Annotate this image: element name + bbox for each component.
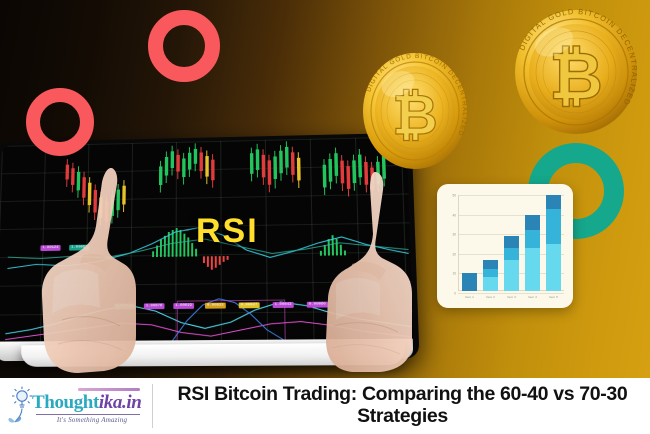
bar-segment	[546, 195, 561, 209]
red-ring-left-decoration	[26, 88, 94, 156]
logo-tagline: It's Something Amazing	[40, 416, 144, 424]
x-axis-tick-label: Item 4	[525, 295, 540, 299]
bar-column	[462, 195, 477, 291]
hero-banner: 1.00124 1.00061 1.00418 1.00076 1.00019 …	[0, 0, 650, 378]
price-chip-5: 1.00019	[173, 303, 194, 309]
bar-segment	[483, 277, 498, 291]
tablet-base-edge	[21, 343, 406, 367]
logo-wordmark: Thoughtika.in	[32, 392, 141, 414]
price-chip-4: 1.00076	[144, 303, 164, 309]
bar-segment	[504, 248, 519, 260]
bar-segment	[483, 269, 498, 277]
x-axis-tick-label: Item 1	[462, 295, 477, 299]
y-axis-tick-label: 40	[444, 213, 456, 217]
bar-chart-plot: 01020304050 Item 1Item 2Item 3Item 4Item…	[444, 193, 566, 302]
rsi-watermark-label: RSI	[196, 212, 259, 251]
bar-segment	[525, 215, 540, 231]
y-axis-tick-label: 10	[444, 272, 456, 276]
indicator-line-magenta	[5, 321, 411, 340]
y-axis-tick-label: 0	[444, 291, 456, 295]
bar-segment	[483, 260, 498, 270]
price-chip-2: 1.00061	[69, 245, 89, 251]
x-axis-tick-label: Item 2	[483, 295, 498, 299]
price-chip-7: 0.00027	[239, 302, 260, 308]
bar-segment	[546, 209, 561, 243]
red-ring-top-decoration	[148, 10, 220, 82]
article-title: RSI Bitcoin Trading: Comparing the 60-40…	[153, 384, 650, 428]
bar-chart-bars	[459, 195, 564, 291]
bar-chart-card: 01020304050 Item 1Item 2Item 3Item 4Item…	[437, 184, 573, 308]
bar-segment	[525, 230, 540, 248]
y-axis-tick-label: 20	[444, 252, 456, 256]
bar-segment	[462, 273, 477, 291]
bar-chart-x-axis: Item 1Item 2Item 3Item 4Item 5	[459, 292, 564, 301]
logo-word-part1: Thought	[32, 392, 99, 413]
x-axis-tick-label: Item 3	[504, 295, 519, 299]
bar-column	[546, 195, 561, 291]
screenshot-root: 1.00124 1.00061 1.00418 1.00076 1.00019 …	[0, 0, 650, 434]
bitcoin-coin-large: DIGITAL GOLD BITCOIN DECENTRALIZED ₿	[512, 8, 640, 136]
bar-segment	[504, 236, 519, 248]
price-chip-3: 1.00418	[114, 304, 134, 310]
bar-segment	[504, 260, 519, 291]
brand-logo[interactable]: Thoughtika.in It's Something Amazing	[0, 378, 152, 434]
y-axis-tick-label: 30	[444, 233, 456, 237]
x-axis-tick-label: Item 5	[546, 295, 561, 299]
price-chip-9: 0.00060	[307, 302, 328, 308]
logo-accent-bar	[78, 388, 140, 391]
footer-bar: Thoughtika.in It's Something Amazing RSI…	[0, 378, 650, 434]
price-chip-6: 0.00933	[205, 303, 226, 309]
bar-segment	[546, 244, 561, 291]
price-chip-1: 1.00124	[40, 245, 60, 251]
bitcoin-coin-small: DIGITAL GOLD BITCOIN DECENTRALIZED ₿	[362, 52, 468, 170]
price-chip-8: 1.00043	[273, 302, 294, 308]
bar-segment	[525, 248, 540, 291]
logo-word-part2: ika.in	[99, 392, 141, 413]
bar-column	[483, 195, 498, 291]
y-axis-tick-label: 50	[444, 193, 456, 197]
bar-column	[525, 195, 540, 291]
logo-divider-rule	[36, 414, 140, 415]
bar-column	[504, 195, 519, 291]
